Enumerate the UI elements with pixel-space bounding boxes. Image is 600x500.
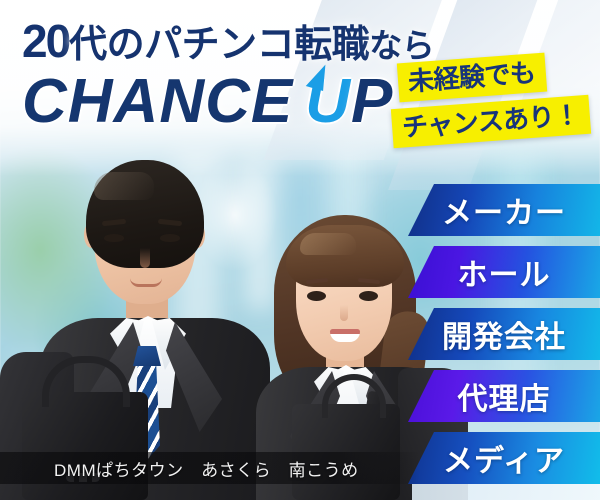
advertisement-banner[interactable]: 20代のパチンコ転職なら CHANCEUP 未経験でも チャンスあり！ メーカー…	[0, 0, 600, 500]
headline-up-word: UP	[305, 69, 393, 134]
headline-p-letter: P	[351, 67, 393, 136]
bottom-right-wedge	[412, 484, 600, 500]
badge-chance-available: チャンスあり！	[391, 95, 591, 148]
category-label-media: メディア	[443, 436, 565, 480]
headline-line-2: CHANCEUP	[22, 69, 434, 134]
female-eye-left	[307, 291, 326, 301]
headline-line-1-rest: 代のパチンコ転職	[69, 24, 369, 66]
male-eye-left	[104, 234, 124, 242]
headline-number: 20	[22, 15, 69, 67]
headline-chance-word: CHANCE	[22, 67, 293, 136]
category-button-hall[interactable]: ホール	[408, 246, 600, 298]
female-hair-bangs	[286, 225, 404, 287]
category-button-agency[interactable]: 代理店	[408, 370, 600, 422]
headline-block: 20代のパチンコ転職なら CHANCEUP	[22, 18, 434, 134]
category-label-agency: 代理店	[458, 374, 551, 418]
credit-bar: DMMぱちタウン あさくら 南こうめ	[0, 452, 420, 484]
category-button-developer[interactable]: 開発会社	[408, 308, 600, 360]
male-nose	[140, 248, 150, 268]
category-button-media[interactable]: メディア	[408, 432, 600, 484]
female-nose	[340, 305, 348, 321]
category-label-maker: メーカー	[442, 188, 566, 232]
credit-text: DMMぱちタウン あさくら 南こうめ	[0, 456, 359, 481]
category-label-developer: 開発会社	[442, 312, 566, 356]
female-mouth	[330, 329, 360, 342]
category-button-maker[interactable]: メーカー	[408, 184, 600, 236]
category-label-hall: ホール	[458, 250, 551, 294]
male-eye-right	[160, 234, 180, 242]
headline-line-1: 20代のパチンコ転職なら	[22, 18, 434, 64]
female-eye-right	[359, 291, 378, 301]
badge-no-experience: 未経験でも	[397, 53, 547, 103]
promo-badges: 未経験でも チャンスあり！	[398, 58, 600, 141]
male-mouth	[130, 278, 162, 287]
